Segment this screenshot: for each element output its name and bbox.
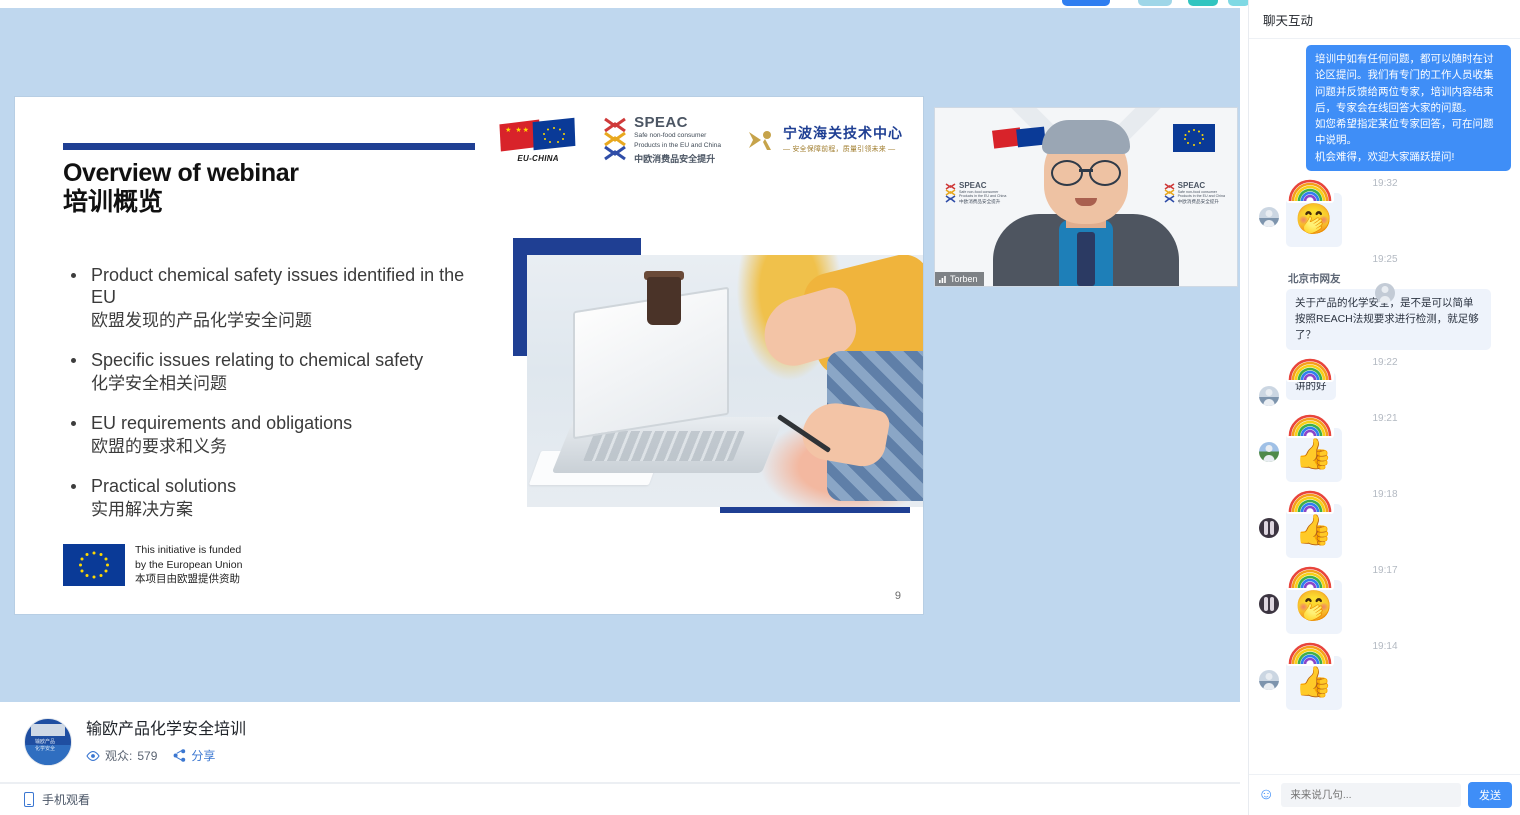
- chrome-blob-secondary: [1138, 0, 1172, 6]
- avatar[interactable]: [1259, 442, 1279, 462]
- mobile-watch-bar[interactable]: 手机观看: [0, 783, 1240, 815]
- slide-photo-laptop-meeting: [527, 255, 923, 507]
- speac-subtitle-line1: Safe non-food consumer: [634, 132, 721, 140]
- slide-title-rule: [63, 143, 475, 150]
- emoji-picker-icon[interactable]: ☺: [1258, 787, 1274, 803]
- chat-message: 讲的好: [1259, 372, 1511, 406]
- room-avatar-caption: 输欧产品化学安全: [35, 739, 55, 752]
- speaker-bg-eu-flag-icon: [1173, 124, 1215, 152]
- eye-icon: [86, 751, 100, 761]
- rainbow-sticker-icon: [1286, 564, 1334, 590]
- slide-logo-row: ★ ★★ EU-CHINA: [500, 115, 903, 165]
- ningbo-tagline: — 安全保障前程，质量引领未来 —: [783, 144, 903, 154]
- chat-input-bar: ☺ 发送: [1249, 774, 1520, 815]
- presentation-slide: Overview of webinar 培训概览 Product chemica…: [15, 97, 923, 614]
- speaker-hair: [1042, 120, 1130, 154]
- speaker-name-text: Torben: [950, 274, 978, 284]
- eu-stars-icon: [538, 125, 570, 145]
- eu-flag-stars: [63, 544, 125, 586]
- chat-input[interactable]: [1281, 783, 1461, 807]
- chat-header-title: 聊天互动: [1263, 10, 1313, 29]
- chat-message-column: 北京市网友 关于产品的化学安全，是不是可以简单按照REACH法规要求进行检测，就…: [1286, 269, 1491, 350]
- chat-message-column: 👍: [1286, 504, 1342, 558]
- chrome-blob-quaternary: [1228, 0, 1250, 6]
- speac-subtitle-line2: Products in the EU and China: [634, 142, 721, 150]
- chat-message: 🤭: [1259, 193, 1511, 247]
- bullet-text-zh: 欧盟的要求和义务: [91, 436, 483, 459]
- ningbo-text: 宁波海关技术中心 — 安全保障前程，质量引领未来 —: [783, 126, 903, 154]
- chat-message: 👍: [1259, 428, 1511, 482]
- chat-message: 🤭: [1259, 580, 1511, 634]
- china-stars-icon: ★ ★★: [505, 126, 530, 134]
- bullet-dot-icon: [71, 273, 76, 278]
- bullet-dot-icon: [71, 484, 76, 489]
- chrome-blob-primary: [1062, 0, 1110, 6]
- stream-info-bar: 输欧产品化学安全 输欧产品化学安全培训 观众: 579: [0, 702, 1240, 783]
- avatar[interactable]: [1375, 283, 1395, 303]
- ningbo-chinese-name: 宁波海关技术中心: [783, 126, 903, 141]
- speac-chinese-name: 中欧消费品安全提升: [634, 152, 721, 165]
- eu-funding-line1: This initiative is funded: [135, 543, 242, 557]
- bullet-text-zh: 化学安全相关问题: [91, 373, 483, 396]
- speac-name: SPEAC: [634, 115, 721, 130]
- chat-message: 👍: [1259, 504, 1511, 558]
- stream-info-text: 输欧产品化学安全培训 观众: 579: [86, 720, 246, 764]
- speac-text: SPEAC Safe non-food consumer Products in…: [634, 115, 721, 165]
- speaker-bg-speac-text: SPEAC Safe non-food consumer Products in…: [1178, 182, 1225, 204]
- slide-photo-block: [499, 229, 911, 519]
- eu-china-logo: ★ ★★ EU-CHINA: [500, 118, 576, 163]
- room-title: 输欧产品化学安全培训: [86, 720, 246, 739]
- eu-funding-zh: 本项目由欧盟提供资助: [135, 572, 242, 586]
- rainbow-sticker-icon: [1286, 488, 1334, 514]
- speaker-name-badge: Torben: [935, 272, 984, 286]
- speac-name: SPEAC: [1178, 182, 1225, 190]
- chat-message-column: 👍: [1286, 428, 1342, 482]
- avatar[interactable]: [1259, 207, 1279, 227]
- ningbo-key-icon: [747, 126, 777, 154]
- slide-title-en: Overview of webinar: [63, 159, 503, 188]
- speac-chinese-name: 中欧消费品安全提升: [1178, 199, 1225, 205]
- chat-message-column: 培训中如有任何问题，都可以随时在讨论区提问。我们有专门的工作人员收集问题并反馈给…: [1306, 45, 1511, 171]
- ningbo-customs-logo: 宁波海关技术中心 — 安全保障前程，质量引领未来 —: [747, 126, 903, 154]
- bullet-text-en: Product chemical safety issues identifie…: [91, 265, 483, 309]
- chat-message-list[interactable]: 培训中如有任何问题，都可以随时在讨论区提问。我们有专门的工作人员收集问题并反馈给…: [1249, 39, 1520, 774]
- room-avatar[interactable]: 输欧产品化学安全: [24, 718, 72, 766]
- live-webinar-page: Overview of webinar 培训概览 Product chemica…: [0, 0, 1520, 815]
- player-column: Overview of webinar 培训概览 Product chemica…: [0, 8, 1248, 815]
- bullet-text-en: Practical solutions: [91, 476, 483, 498]
- viewer-count-group: 观众: 579: [86, 747, 157, 764]
- eu-china-flags-icon: ★ ★★: [500, 118, 576, 152]
- speac-subtitle-line2: Products in the EU and China: [1178, 194, 1225, 198]
- bullet-text-zh: 实用解决方案: [91, 499, 483, 522]
- room-meta-row: 观众: 579 分享: [86, 747, 246, 764]
- avatar[interactable]: [1259, 386, 1279, 406]
- video-stage[interactable]: Overview of webinar 培训概览 Product chemica…: [0, 8, 1240, 702]
- rainbow-sticker-icon: [1286, 356, 1334, 382]
- eu-funding-text: This initiative is funded by the Europea…: [135, 543, 242, 586]
- room-avatar-top: [31, 724, 65, 736]
- eu-funding-line2: by the European Union: [135, 558, 242, 572]
- eu-china-caption: EU-CHINA: [517, 154, 559, 163]
- viewers-label: 观众:: [105, 747, 132, 764]
- slide-bullet: Practical solutions 实用解决方案: [63, 476, 483, 522]
- speaker-tie: [1077, 232, 1095, 286]
- chat-timestamp: 19:25: [1259, 254, 1511, 265]
- viewers-count: 579: [137, 749, 157, 763]
- photo-laptop-keys: [583, 431, 745, 461]
- speac-mark-icon: [945, 183, 956, 203]
- share-icon: [173, 749, 186, 762]
- chat-header: 聊天互动: [1249, 0, 1520, 39]
- chat-message: 北京市网友 关于产品的化学安全，是不是可以简单按照REACH法规要求进行检测，就…: [1259, 269, 1511, 350]
- bullet-text-en: EU requirements and obligations: [91, 413, 483, 435]
- send-button[interactable]: 发送: [1468, 782, 1512, 808]
- bullet-text-zh: 欧盟发现的产品化学安全问题: [91, 310, 483, 333]
- chat-message-column: 🤭: [1286, 193, 1342, 247]
- chat-panel: 聊天互动 培训中如有任何问题，都可以随时在讨论区提问。我们有专门的工作人员收集问…: [1248, 0, 1520, 815]
- slide-title: Overview of webinar 培训概览: [63, 159, 503, 217]
- slide-bullet: Specific issues relating to chemical saf…: [63, 350, 483, 396]
- share-label: 分享: [191, 747, 215, 764]
- slide-bullet: EU requirements and obligations 欧盟的要求和义务: [63, 413, 483, 459]
- speaker-video-tile[interactable]: SPEAC Safe non-food consumer Products in…: [934, 107, 1238, 287]
- avatar[interactable]: [1259, 518, 1279, 538]
- rainbow-sticker-icon: [1286, 640, 1334, 666]
- eu-funding-notice: This initiative is funded by the Europea…: [63, 543, 242, 586]
- mobile-watch-label: 手机观看: [42, 791, 90, 808]
- avatar[interactable]: [1259, 594, 1279, 614]
- eu-flag-large-icon: [63, 544, 125, 586]
- share-button[interactable]: 分享: [173, 747, 215, 764]
- speaker-glasses-icon: [1051, 160, 1121, 182]
- chat-message-column: 👍: [1286, 656, 1342, 710]
- speaker-person: [993, 136, 1179, 286]
- signal-bars-icon: [939, 275, 947, 283]
- rainbow-sticker-icon: [1286, 412, 1334, 438]
- rainbow-sticker-icon: [1286, 177, 1334, 203]
- chat-bubble-own: 培训中如有任何问题，都可以随时在讨论区提问。我们有专门的工作人员收集问题并反馈给…: [1306, 45, 1511, 171]
- slide-page-number: 9: [895, 590, 901, 602]
- speaker-eu-stars: [1173, 124, 1215, 152]
- slide-bullet: Product chemical safety issues identifie…: [63, 265, 483, 333]
- slide-bullets: Product chemical safety issues identifie…: [63, 265, 483, 539]
- speac-mark-icon: [602, 117, 628, 163]
- mobile-phone-icon: [24, 792, 34, 807]
- bullet-text-en: Specific issues relating to chemical saf…: [91, 350, 483, 372]
- speac-logo: SPEAC Safe non-food consumer Products in…: [602, 115, 721, 165]
- bullet-dot-icon: [71, 421, 76, 426]
- chrome-blob-tertiary: [1188, 0, 1218, 6]
- slide-title-zh: 培训概览: [63, 188, 503, 217]
- photo-coffee-cup: [647, 277, 681, 325]
- chat-message-column: 🤭: [1286, 580, 1342, 634]
- chat-message: 👍: [1259, 656, 1511, 710]
- avatar[interactable]: [1259, 670, 1279, 690]
- chat-message: 培训中如有任何问题，都可以随时在讨论区提问。我们有专门的工作人员收集问题并反馈给…: [1259, 45, 1511, 171]
- bullet-dot-icon: [71, 358, 76, 363]
- chat-message-column: 讲的好: [1286, 372, 1336, 406]
